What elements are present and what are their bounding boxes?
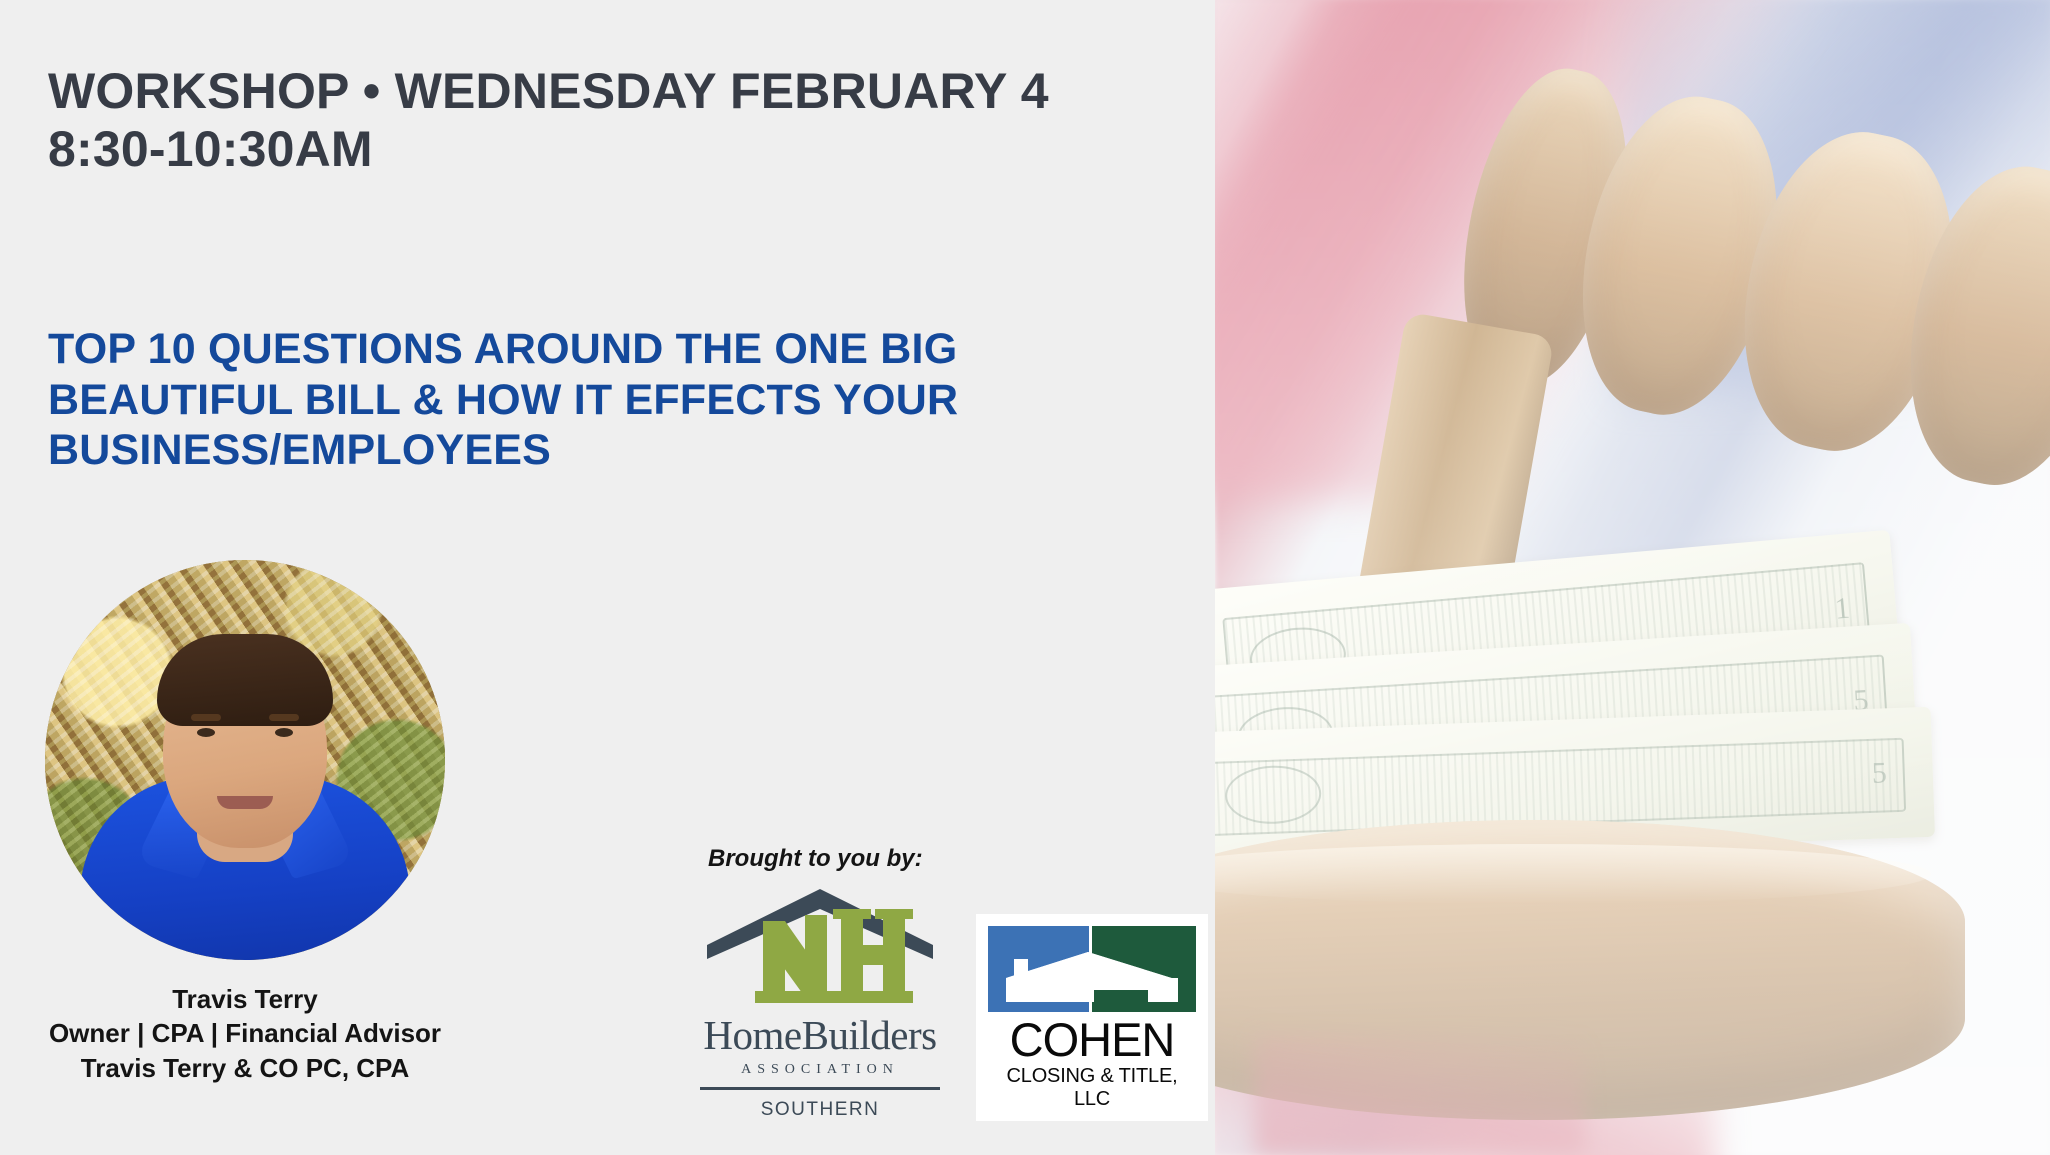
nhba-chapter: SOUTHERN [690,1099,950,1121]
hero-image: 1 5 5 [1215,0,2050,1155]
nhba-name: HomeBuilders [690,1015,950,1056]
content-panel: WORKSHOP • WEDNESDAY FEBRUARY 4 8:30-10:… [0,0,1215,1155]
avatar [45,560,445,960]
speaker-name: Travis Terry [10,982,480,1016]
page-title: TOP 10 QUESTIONS AROUND THE ONE BIG BEAU… [48,324,1183,476]
image-overlay-wash [1215,0,2050,1155]
event-eyebrow-line-2: 8:30-10:30AM [48,120,1168,178]
avatar-hair [157,634,333,726]
cohen-tagline: CLOSING & TITLE, LLC [988,1065,1196,1111]
speaker-company: Travis Terry & CO PC, CPA [10,1051,480,1085]
sponsors-block: Brought to you by: [690,845,1220,1121]
nh-homebuilders-logo: HomeBuilders ASSOCIATION SOUTHERN [690,883,950,1121]
event-flyer: WORKSHOP • WEDNESDAY FEBRUARY 4 8:30-10:… [0,0,2050,1155]
cohen-mark [988,926,1196,1012]
avatar-eye-left [197,728,215,737]
sponsors-label: Brought to you by: [708,845,1220,873]
speaker-title: Owner | CPA | Financial Advisor [10,1016,480,1050]
cohen-closing-title-logo: COHEN CLOSING & TITLE, LLC [976,914,1208,1121]
avatar-mouth [217,796,273,809]
avatar-eyebrow-right [269,714,299,721]
avatar-eye-right [275,728,293,737]
nhba-roof-and-initials-icon [701,883,939,1011]
nhba-divider [700,1087,940,1090]
speaker-details: Travis Terry Owner | CPA | Financial Adv… [10,982,480,1085]
avatar-eyebrow-left [191,714,221,721]
nhba-association: ASSOCIATION [690,1062,950,1078]
speaker-block: Travis Terry Owner | CPA | Financial Adv… [10,560,480,1085]
nhba-mark [690,883,950,1011]
event-eyebrow-line-1: WORKSHOP • WEDNESDAY FEBRUARY 4 [48,62,1168,120]
event-eyebrow: WORKSHOP • WEDNESDAY FEBRUARY 4 8:30-10:… [48,62,1168,178]
cohen-house-icon [988,926,1196,1012]
cohen-name: COHEN [988,1016,1196,1063]
sponsor-logos: HomeBuilders ASSOCIATION SOUTHERN [690,883,1220,1121]
